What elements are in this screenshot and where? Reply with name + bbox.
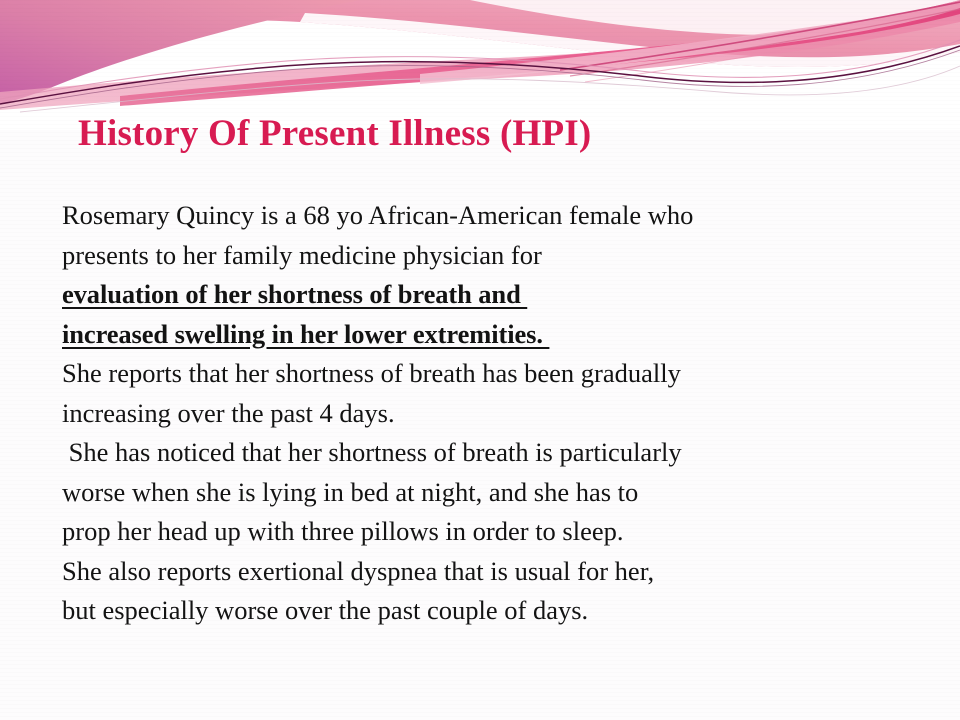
body-line: increasing over the past 4 days. <box>62 394 908 434</box>
body-line-emphasized: evaluation of her shortness of breath an… <box>62 275 908 315</box>
body-line: prop her head up with three pillows in o… <box>62 512 908 552</box>
body-line: but especially worse over the past coupl… <box>62 591 908 631</box>
hpi-body-text: Rosemary Quincy is a 68 yo African-Ameri… <box>62 196 908 631</box>
body-line-emphasized: increased swelling in her lower extremit… <box>62 315 908 355</box>
page-title: History Of Present Illness (HPI) <box>78 112 591 155</box>
body-line: She has noticed that her shortness of br… <box>62 433 908 473</box>
body-line: Rosemary Quincy is a 68 yo African-Ameri… <box>62 196 908 236</box>
body-line: worse when she is lying in bed at night,… <box>62 473 908 513</box>
decorative-pink-wave-banner <box>0 0 960 130</box>
presentation-slide: History Of Present Illness (HPI) Rosemar… <box>0 0 960 720</box>
body-line: She reports that her shortness of breath… <box>62 354 908 394</box>
body-line: presents to her family medicine physicia… <box>62 236 908 276</box>
body-line: She also reports exertional dyspnea that… <box>62 552 908 592</box>
